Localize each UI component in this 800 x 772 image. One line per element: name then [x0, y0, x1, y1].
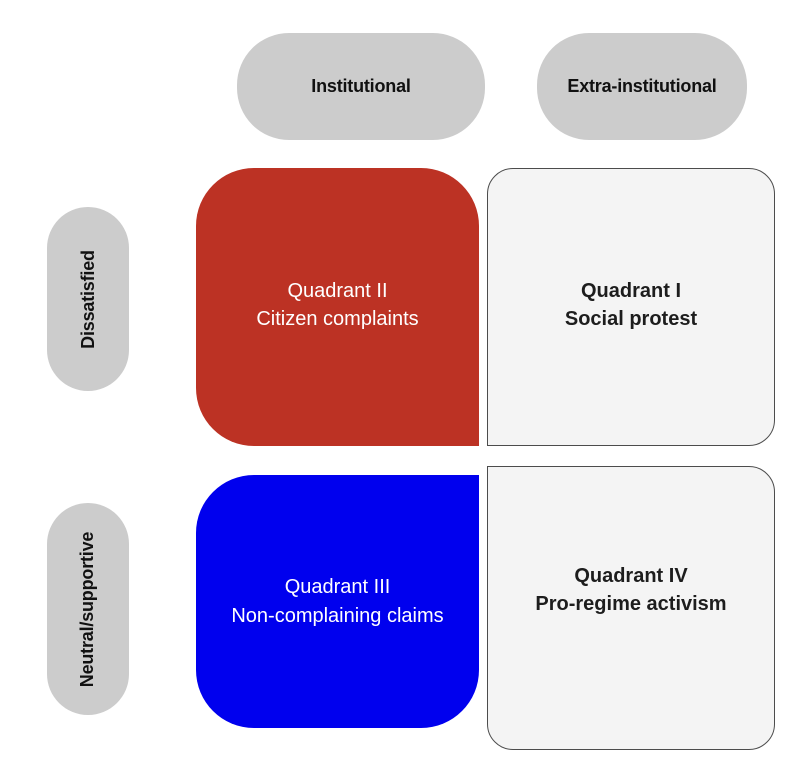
- column-header-extra-institutional-label: Extra-institutional: [567, 76, 716, 97]
- quadrant-i-box: Quadrant I Social protest: [487, 168, 775, 446]
- row-header-neutral-supportive: Neutral/supportive: [47, 503, 129, 715]
- quadrant-diagram: Institutional Extra-institutional Dissat…: [0, 0, 800, 772]
- quadrant-iv-text: Quadrant IV Pro-regime activism: [535, 562, 726, 619]
- quadrant-iii-box: Quadrant III Non-complaining claims: [196, 475, 479, 728]
- column-header-institutional: Institutional: [237, 33, 485, 140]
- quadrant-iv-name: Quadrant IV: [535, 562, 726, 590]
- quadrant-ii-name: Quadrant II: [256, 277, 418, 305]
- quadrant-iii-description: Non-complaining claims: [231, 602, 443, 630]
- quadrant-i-text: Quadrant I Social protest: [565, 277, 697, 338]
- row-header-neutral-supportive-label: Neutral/supportive: [78, 531, 99, 686]
- quadrant-iv-description: Pro-regime activism: [535, 590, 726, 618]
- quadrant-ii-box: Quadrant II Citizen complaints: [196, 168, 479, 446]
- column-header-extra-institutional: Extra-institutional: [537, 33, 747, 140]
- quadrant-iv-box: Quadrant IV Pro-regime activism: [487, 466, 775, 750]
- column-header-institutional-label: Institutional: [311, 76, 410, 97]
- quadrant-ii-text: Quadrant II Citizen complaints: [256, 277, 418, 338]
- quadrant-iii-text: Quadrant III Non-complaining claims: [231, 573, 443, 630]
- quadrant-ii-description: Citizen complaints: [256, 305, 418, 333]
- quadrant-iii-name: Quadrant III: [231, 573, 443, 601]
- row-header-dissatisfied: Dissatisfied: [47, 207, 129, 391]
- quadrant-i-name: Quadrant I: [565, 277, 697, 305]
- row-header-dissatisfied-label: Dissatisfied: [78, 250, 99, 349]
- quadrant-i-description: Social protest: [565, 305, 697, 333]
